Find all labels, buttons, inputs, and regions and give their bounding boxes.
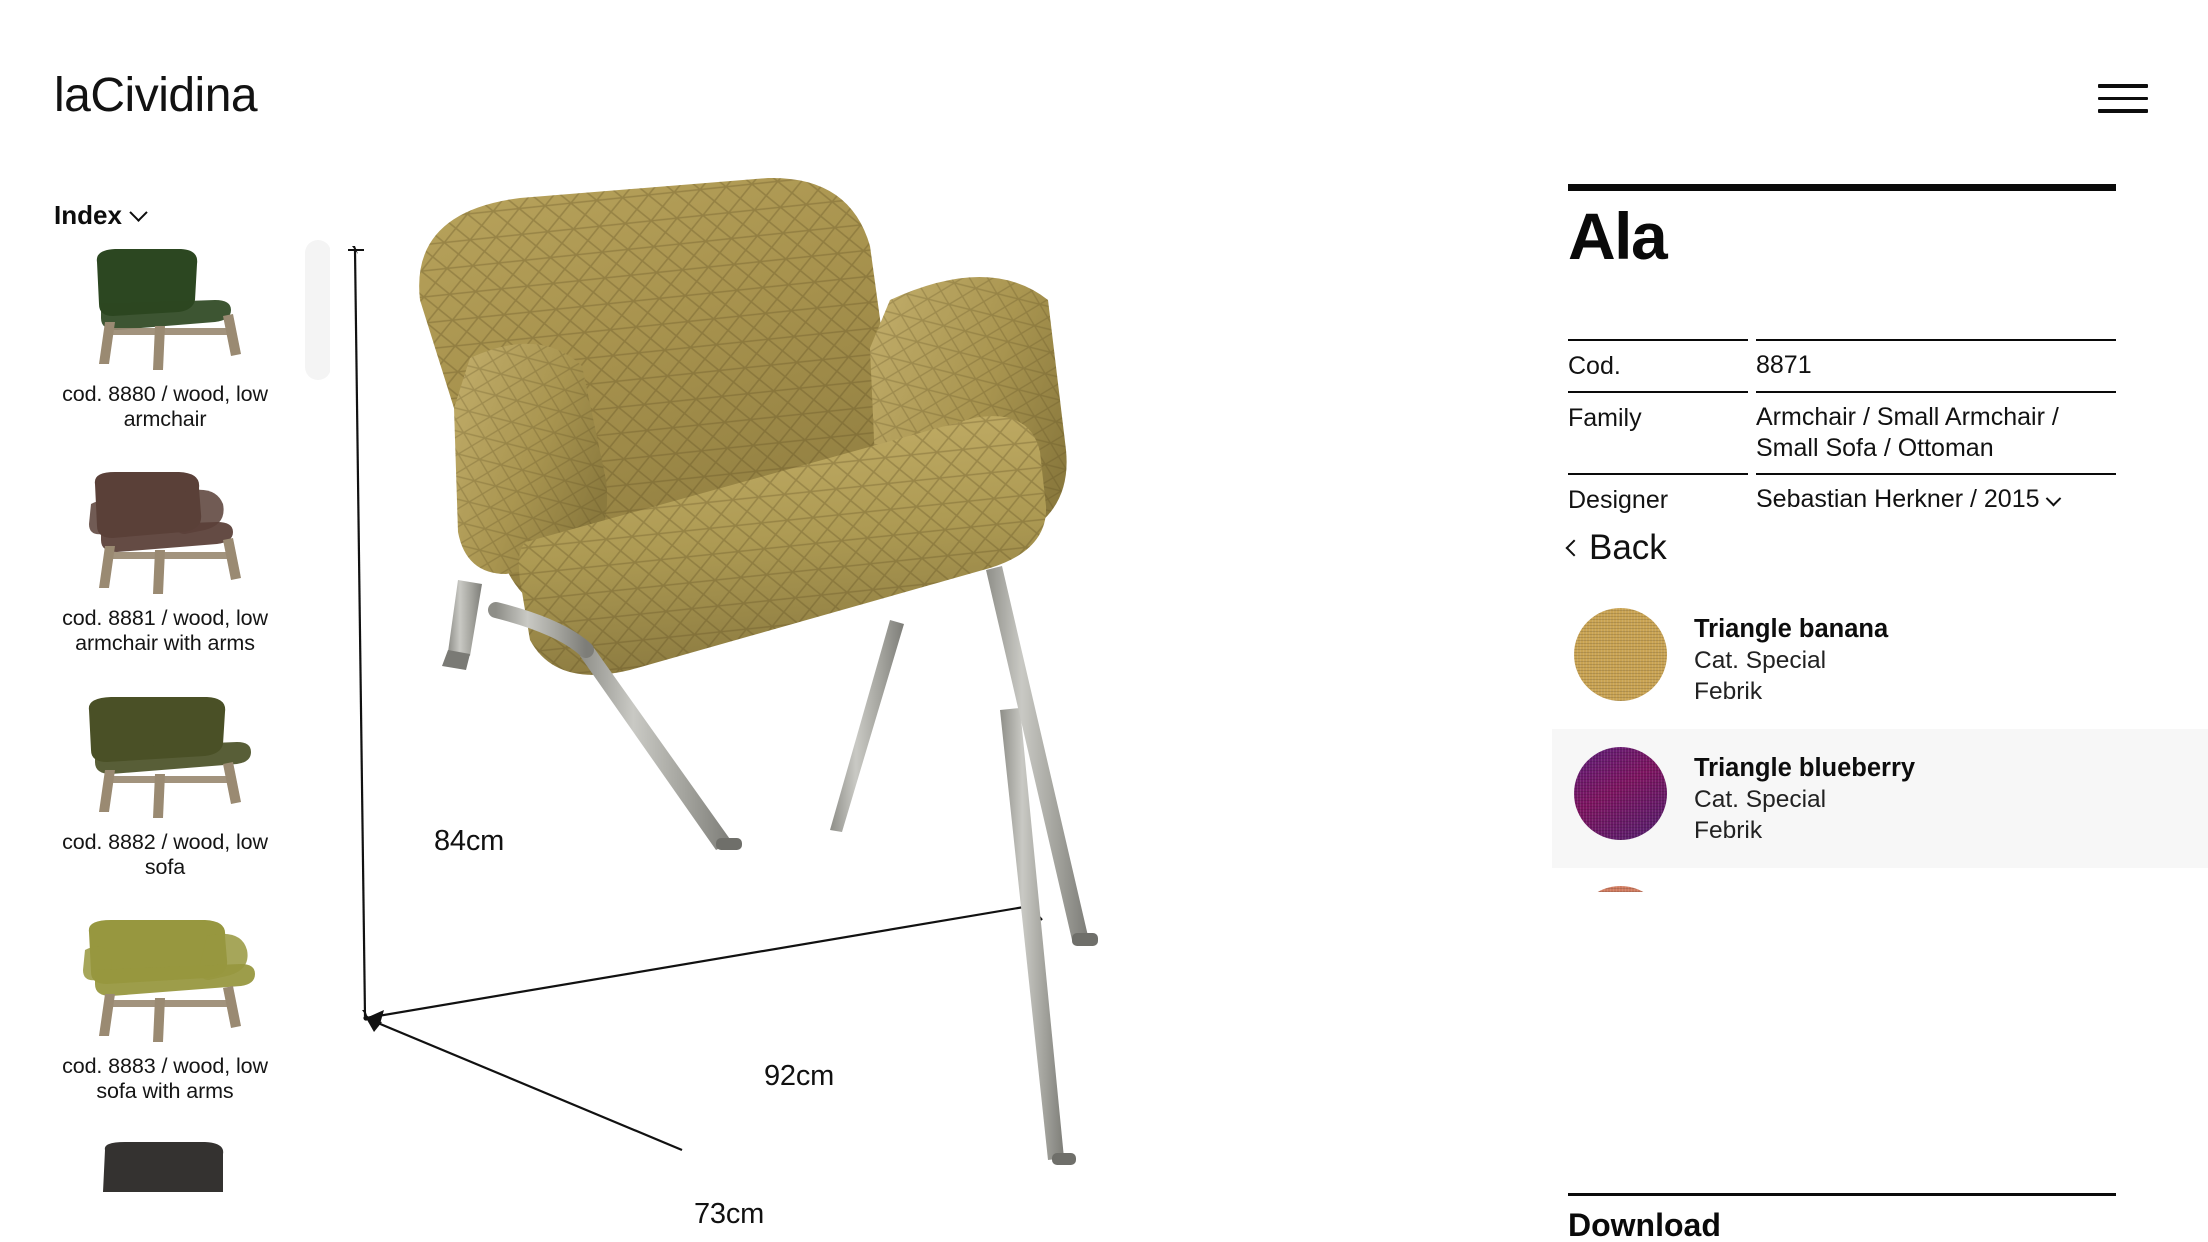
fabric-swatch-row[interactable]: Triangle blueberryCat. SpecialFebrik — [1552, 729, 2208, 868]
product-thumbnail-image — [0, 234, 330, 374]
product-configurator-page: laCividina Index cod. 8880 / wood, low a… — [0, 0, 2208, 1242]
fabric-swatch-dot — [1574, 886, 1667, 892]
chair-render[interactable] — [330, 150, 1552, 1242]
sidebar-item-3[interactable]: cod. 8882 / wood, low sofa — [0, 682, 330, 880]
fabric-swatch-name: Triangle banana — [1694, 614, 1888, 645]
fabric-swatch-cat: Cat. Special — [1694, 784, 1915, 815]
brand-logo[interactable]: laCividina — [54, 68, 257, 123]
product-thumbnail-image — [0, 682, 330, 822]
product-thumbnail-caption: cod. 8881 / wood, low armchair with arms — [0, 598, 330, 656]
fabric-swatch-dot — [1574, 608, 1667, 701]
back-link-label: Back — [1589, 528, 1667, 568]
chevron-down-icon — [2045, 491, 2061, 507]
sidebar-item-4[interactable]: cod. 8883 / wood, low sofa with arms — [0, 906, 330, 1104]
product-thumbnail-caption: cod. 8882 / wood, low sofa — [0, 822, 330, 880]
product-thumbnail-image — [0, 906, 330, 1046]
fabric-swatch-brand: Febrik — [1694, 815, 1915, 846]
index-toggle[interactable]: Index — [54, 200, 145, 231]
spec-value-text: 8871 — [1756, 351, 1812, 379]
download-title: Download — [1568, 1207, 2116, 1242]
product-3d-viewer[interactable]: 84cm 92cm 73cm — [330, 150, 1552, 1242]
site-header: laCividina — [0, 0, 2208, 150]
product-thumbnail-caption: cod. 8880 / wood, low armchair — [0, 374, 330, 432]
hamburger-bar-2 — [2098, 97, 2148, 101]
sidebar-item-1[interactable]: cod. 8880 / wood, low armchair — [0, 234, 330, 432]
product-thumbnail-image — [0, 458, 330, 598]
product-index-sidebar: Index cod. 8880 / wood, low armchair cod… — [0, 178, 330, 1242]
page-title: Ala — [1568, 198, 1666, 274]
product-detail-panel: Ala Cod.8871FamilyArmchair / Small Armch… — [1552, 150, 2208, 1242]
chevron-left-icon — [1566, 540, 1583, 557]
hamburger-bar-1 — [2098, 84, 2148, 88]
product-spec-table: Cod.8871FamilyArmchair / Small Armchair … — [1568, 330, 2116, 516]
fabric-swatch-list: Triangle bananaCat. SpecialFebrikTriangl… — [1552, 590, 2208, 892]
hamburger-bar-3 — [2098, 109, 2148, 113]
product-thumbnail-caption: cod. 8883 / wood, low sofa with arms — [0, 1046, 330, 1104]
download-rule — [1568, 1193, 2116, 1196]
fabric-swatch-text: Triangle blueberryCat. SpecialFebrik — [1694, 747, 1915, 846]
panel-top-rule — [1568, 184, 2116, 191]
spec-value-text: Armchair / Small Armchair / Small Sofa /… — [1756, 403, 2059, 462]
sidebar-item-2[interactable]: cod. 8881 / wood, low armchair with arms — [0, 458, 330, 656]
spec-key: Designer — [1568, 473, 1748, 516]
dimension-depth-label: 73cm — [694, 1198, 764, 1231]
dimension-width-label: 92cm — [764, 1060, 834, 1093]
spec-key: Cod. — [1568, 339, 1748, 382]
spec-row-cod: Cod.8871 — [1568, 330, 2116, 382]
chevron-down-icon — [129, 203, 147, 221]
spec-value-text: Sebastian Herkner / 2015 — [1756, 485, 2040, 513]
sidebar-item-5[interactable] — [0, 1130, 330, 1242]
brand-logo-text: laCividina — [54, 69, 257, 122]
back-link[interactable]: Back — [1568, 528, 1667, 568]
spec-value: 8871 — [1756, 339, 2116, 381]
spec-key: Family — [1568, 391, 1748, 434]
dimension-height-label: 84cm — [434, 825, 504, 858]
fabric-swatch-row[interactable]: Triangle blushCat. SpecialFebrik — [1552, 868, 2208, 892]
fabric-swatch-text: Triangle blushCat. SpecialFebrik — [1694, 886, 1867, 892]
product-thumbnail-list: cod. 8880 / wood, low armchair cod. 8881… — [0, 234, 330, 1242]
fabric-swatch-text: Triangle bananaCat. SpecialFebrik — [1694, 608, 1888, 707]
fabric-swatch-dot — [1574, 747, 1667, 840]
fabric-swatch-row[interactable]: Triangle bananaCat. SpecialFebrik — [1552, 590, 2208, 729]
spec-value: Armchair / Small Armchair / Small Sofa /… — [1756, 391, 2116, 464]
chair-legs — [830, 620, 1076, 1165]
fabric-swatch-brand: Febrik — [1694, 676, 1888, 707]
product-thumbnail-image — [0, 1130, 330, 1242]
index-label: Index — [54, 200, 122, 231]
spec-row-family: FamilyArmchair / Small Armchair / Small … — [1568, 382, 2116, 464]
fabric-swatch-cat: Cat. Special — [1694, 645, 1888, 676]
spec-row-designer[interactable]: DesignerSebastian Herkner / 2015 — [1568, 464, 2116, 516]
download-section: Download 3d model (.fbx)technical sheet … — [1568, 1193, 2116, 1242]
hamburger-icon[interactable] — [2098, 84, 2148, 118]
fabric-swatch-name: Triangle blueberry — [1694, 753, 1915, 784]
spec-value[interactable]: Sebastian Herkner / 2015 — [1756, 473, 2116, 515]
